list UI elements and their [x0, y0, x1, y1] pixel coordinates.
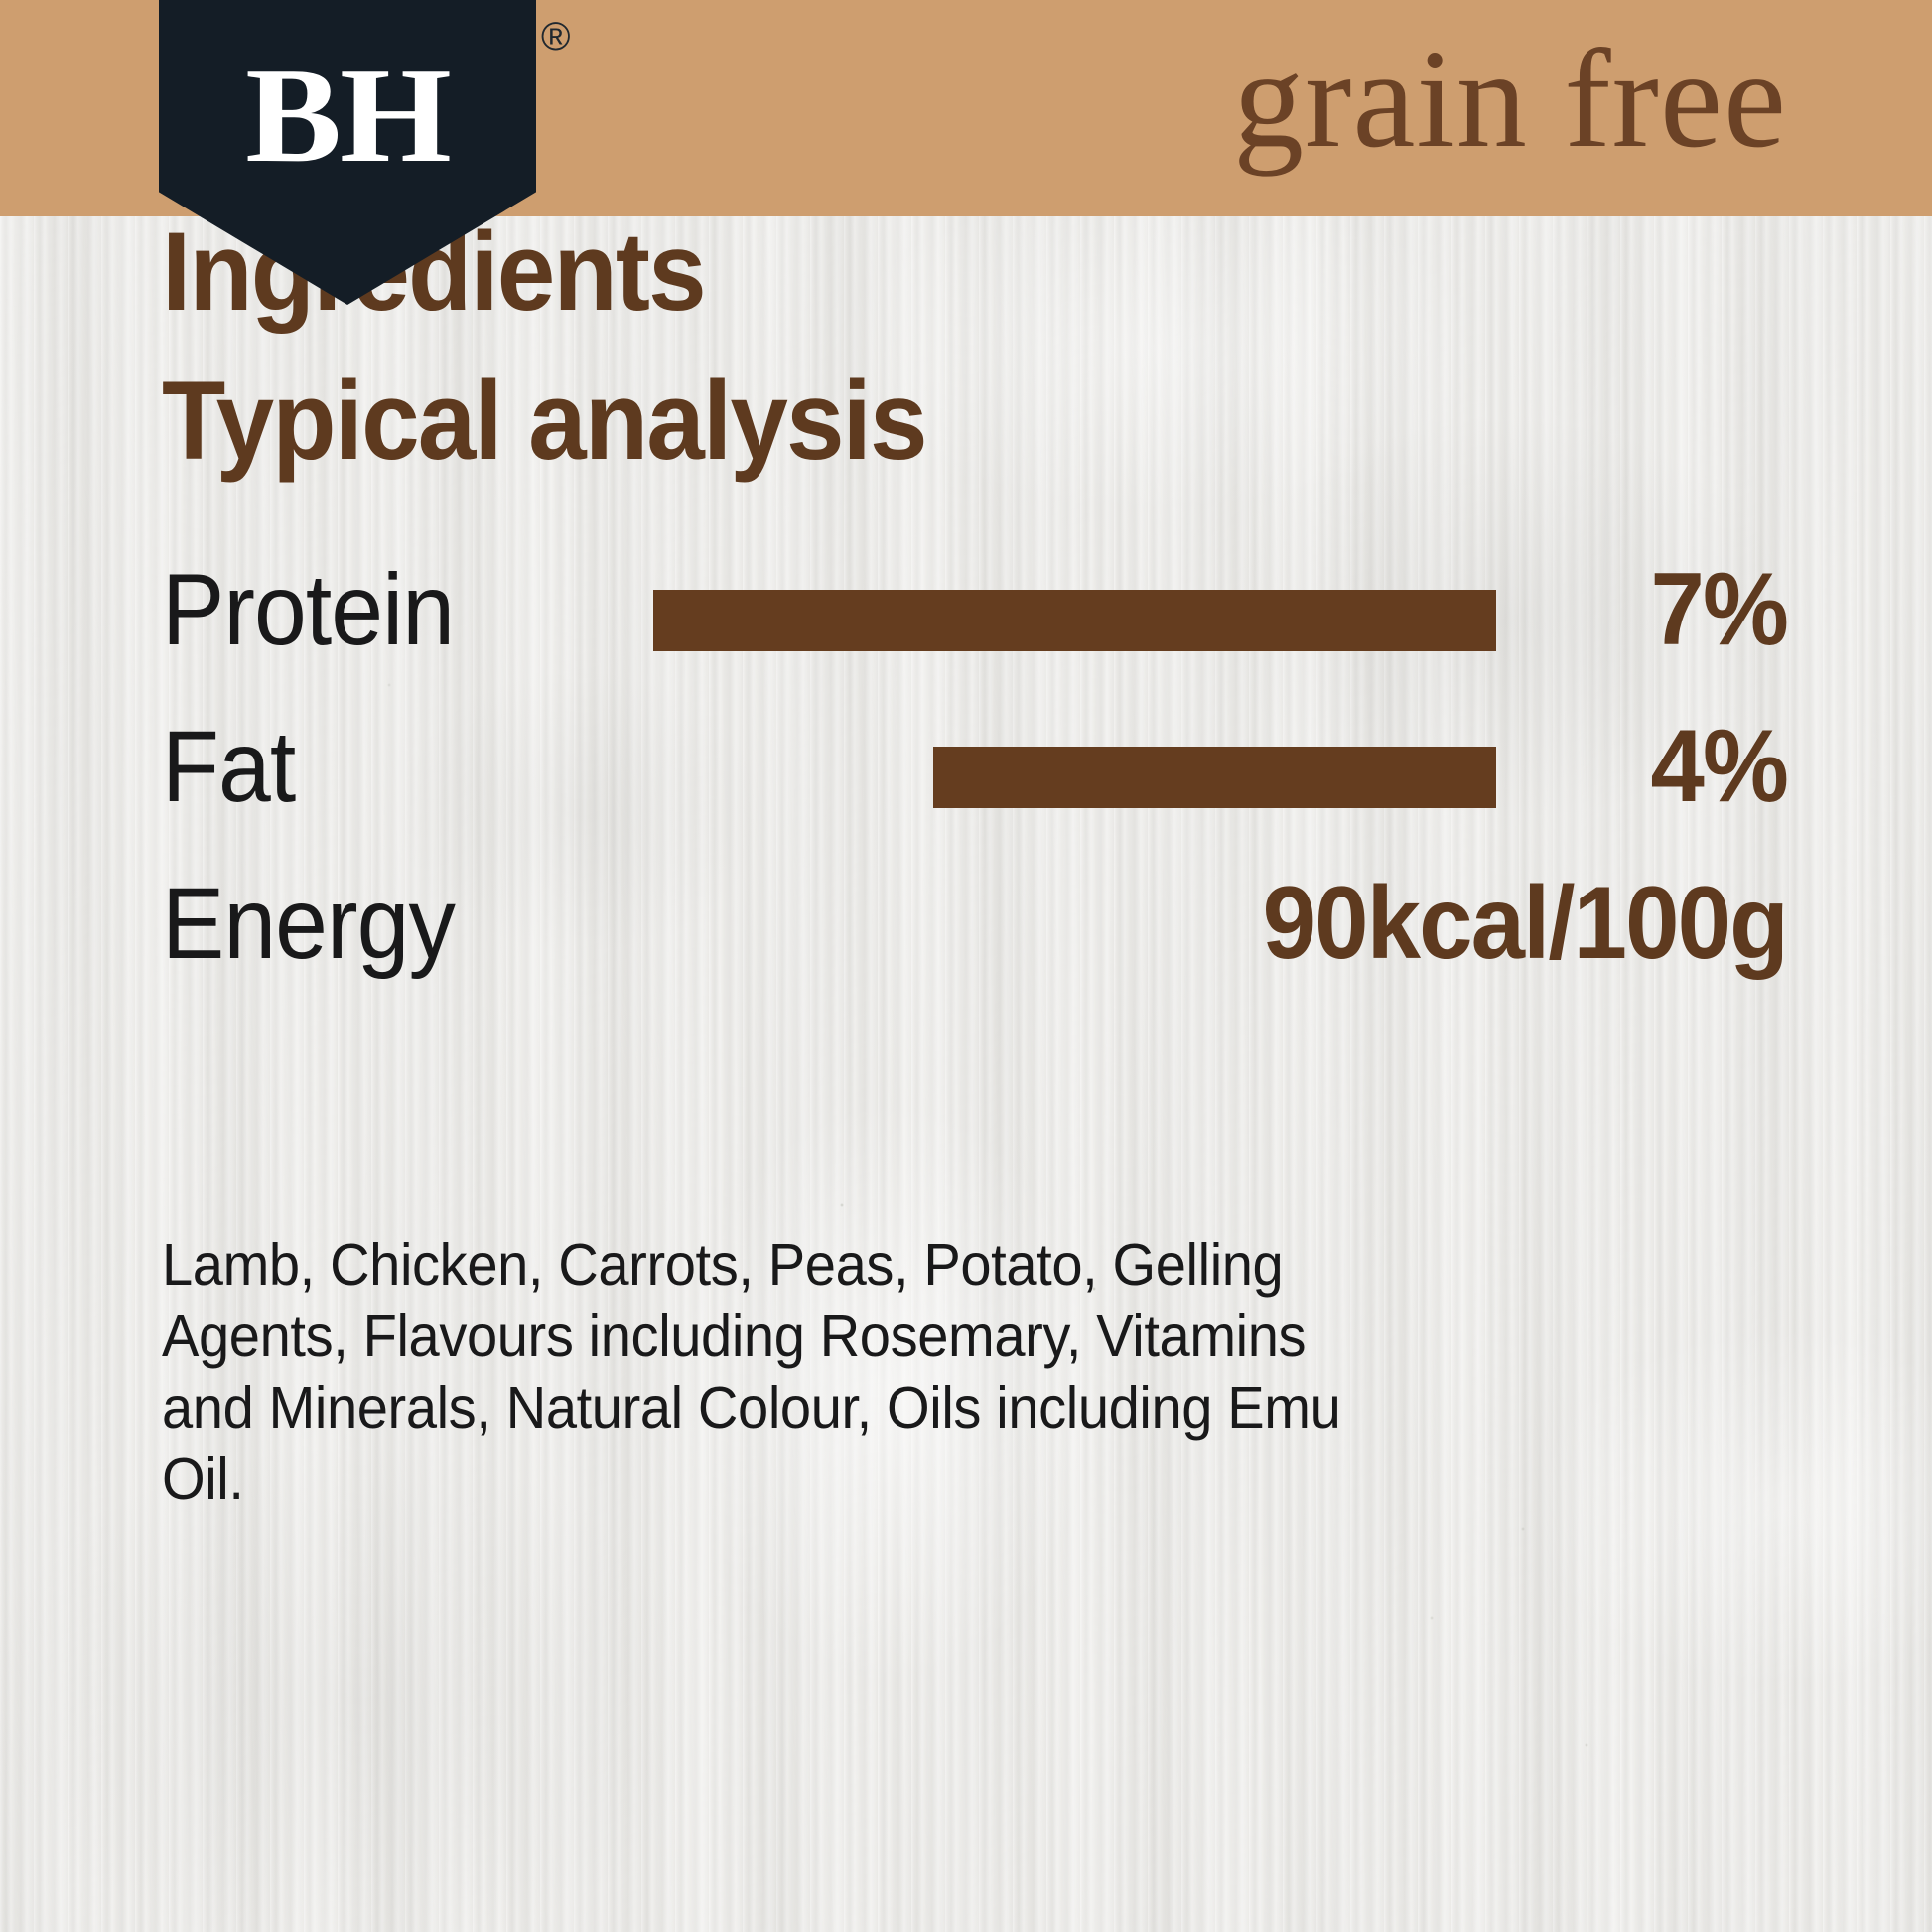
analysis-label-energy: Energy [162, 868, 455, 979]
analysis-value-energy: 90kcal/100g [1115, 862, 1787, 985]
brand-wordmark: BH [245, 48, 450, 184]
analysis-row-energy: Energy 90kcal/100g [0, 868, 1932, 1025]
analysis-row-fat: Fat 4% [0, 711, 1932, 868]
analysis-label-fat: Fat [162, 711, 295, 822]
ingredients-text: Lamb, Chicken, Carrots, Peas, Potato, Ge… [162, 1229, 1388, 1515]
typical-analysis-table: Protein 7% Fat 4% Energy 90kcal/100g [0, 554, 1932, 1025]
analysis-value-fat: 4% [1115, 705, 1787, 828]
nutrition-label-card: BH ® grain free Typical analysis Protein… [0, 0, 1932, 1932]
registered-trademark-icon: ® [541, 16, 587, 62]
typical-analysis-heading: Typical analysis [162, 365, 926, 477]
analysis-value-protein: 7% [1115, 548, 1787, 671]
label-content: Typical analysis Protein 7% Fat 4% Energ… [0, 216, 1932, 1932]
analysis-row-protein: Protein 7% [0, 554, 1932, 711]
analysis-label-protein: Protein [162, 554, 454, 665]
grain-free-tagline: grain free [1233, 14, 1787, 183]
